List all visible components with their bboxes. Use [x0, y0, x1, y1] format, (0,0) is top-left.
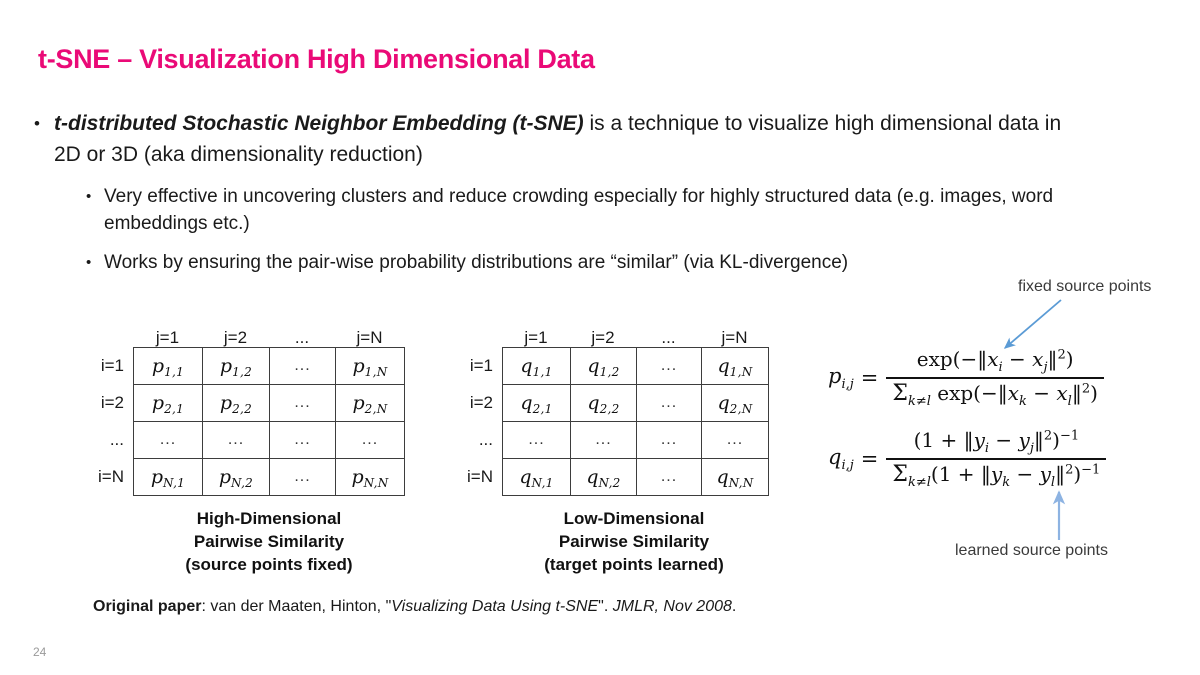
- matrix-p-col-header: j=1: [133, 328, 202, 347]
- matrix-p-row-label: i=1: [78, 347, 133, 384]
- matrix-cell: ...: [270, 385, 336, 422]
- bullet-level2-text: Very effective in uncovering clusters an…: [104, 183, 1066, 237]
- matrix-p-col-header: j=N: [335, 328, 404, 347]
- bullet-marker: •: [86, 183, 104, 210]
- matrix-p-col-header: ...: [269, 328, 335, 347]
- formula-p-denominator: Σk≠l exp(−‖xk − xl‖2): [886, 379, 1104, 409]
- matrix-cell: q1,1: [503, 348, 571, 385]
- formula-q-fraction: (1 + ‖yi − yj‖2)−1 Σk≠l(1 + ‖yk − yl‖2)−…: [886, 428, 1106, 490]
- citation-label: Original paper: [93, 598, 201, 615]
- matrix-cell: q2,N: [702, 385, 769, 422]
- matrix-cell: pN,2: [203, 459, 270, 496]
- matrix-cell: ...: [270, 422, 336, 459]
- matrix-cell: pN,N: [336, 459, 405, 496]
- citation-period: .: [732, 598, 736, 615]
- matrix-q-col-header: j=N: [701, 328, 768, 347]
- matrix-cell: ...: [203, 422, 270, 459]
- matrix-cell: ...: [702, 422, 769, 459]
- table-row: ... ... ... ...: [134, 422, 405, 459]
- page-title: t-SNE – Visualization High Dimensional D…: [38, 44, 595, 75]
- matrix-q-row-labels: i=1 i=2 ... i=N: [447, 347, 502, 496]
- bullet-level1: • t-distributed Stochastic Neighbor Embe…: [34, 108, 1064, 170]
- arrow-up-icon: [1051, 486, 1067, 544]
- matrix-cell: qN,2: [571, 459, 637, 496]
- slide-number: 24: [33, 645, 46, 659]
- formula-p-lhs: pi,j: [828, 364, 861, 392]
- table-row: q1,1 q1,2 ... q1,N: [503, 348, 769, 385]
- matrix-cell: qN,1: [503, 459, 571, 496]
- formula-q: qi,j = (1 + ‖yi − yj‖2)−1 Σk≠l(1 + ‖yk −…: [828, 428, 1106, 490]
- matrix-q-col-header: ...: [636, 328, 701, 347]
- table-row: ... ... ... ...: [503, 422, 769, 459]
- bullet-level1-text: t-distributed Stochastic Neighbor Embedd…: [54, 108, 1064, 170]
- table-row: p2,1 p2,2 ... p2,N: [134, 385, 405, 422]
- matrix-cell: qN,N: [702, 459, 769, 496]
- matrix-q-column-headers: j=1 j=2 ... j=N: [447, 318, 769, 347]
- bullet-level2-text: Works by ensuring the pair-wise probabil…: [104, 249, 1066, 276]
- matrix-cell: p1,1: [134, 348, 203, 385]
- matrix-q-caption: Low-Dimensional Pairwise Similarity (tar…: [500, 507, 768, 576]
- matrix-q-col-header: j=2: [570, 328, 636, 347]
- matrix-q-row-label: i=2: [447, 384, 502, 421]
- matrix-cell: q2,2: [571, 385, 637, 422]
- annotation-fixed-source-points: fixed source points: [1018, 278, 1151, 296]
- matrix-p-row-label: ...: [78, 421, 133, 458]
- matrix-p-caption: High-Dimensional Pairwise Similarity (so…: [133, 507, 405, 576]
- matrix-q-row-label: ...: [447, 421, 502, 458]
- formula-q-numerator: (1 + ‖yi − yj‖2)−1: [908, 428, 1086, 458]
- matrix-cell: ...: [637, 459, 702, 496]
- matrix-cell: ...: [270, 459, 336, 496]
- matrix-cell: p2,1: [134, 385, 203, 422]
- matrix-cell: p2,N: [336, 385, 405, 422]
- matrix-q-block: j=1 j=2 ... j=N i=1 i=2 ... i=N q1,1 q1,…: [447, 318, 769, 496]
- matrix-p-row-label: i=2: [78, 384, 133, 421]
- matrix-cell: ...: [571, 422, 637, 459]
- matrix-cell: p2,2: [203, 385, 270, 422]
- citation-paper-title: Visualizing Data Using t-SNE: [391, 598, 598, 615]
- matrix-p-column-headers: j=1 j=2 ... j=N: [78, 318, 405, 347]
- matrix-p-col-header: j=2: [202, 328, 269, 347]
- bullet-marker: •: [34, 108, 54, 139]
- matrix-cell: q2,1: [503, 385, 571, 422]
- matrix-cell: pN,1: [134, 459, 203, 496]
- table-row: q2,1 q2,2 ... q2,N: [503, 385, 769, 422]
- matrix-cell: q1,2: [571, 348, 637, 385]
- formula-q-lhs: qi,j: [828, 445, 861, 473]
- matrix-p-table: p1,1 p1,2 ... p1,N p2,1 p2,2 ... p2,N ..…: [133, 347, 405, 496]
- matrix-cell: ...: [637, 422, 702, 459]
- citation-venue: JMLR, Nov 2008: [613, 598, 732, 615]
- arrow-down-left-icon: [995, 296, 1067, 358]
- bullet-level2-effective: • Very effective in uncovering clusters …: [86, 183, 1066, 237]
- matrix-cell: q1,N: [702, 348, 769, 385]
- formula-q-denominator: Σk≠l(1 + ‖yk − yl‖2)−1: [886, 460, 1106, 490]
- citation-line: Original paper: van der Maaten, Hinton, …: [93, 598, 736, 616]
- table-row: qN,1 qN,2 ... qN,N: [503, 459, 769, 496]
- matrix-cell: p1,N: [336, 348, 405, 385]
- matrix-cell: ...: [637, 385, 702, 422]
- table-row: pN,1 pN,2 ... pN,N: [134, 459, 405, 496]
- matrix-p-row-labels: i=1 i=2 ... i=N: [78, 347, 133, 496]
- matrix-cell: p1,2: [203, 348, 270, 385]
- formula-p-equals: =: [861, 366, 887, 390]
- matrix-p-block: j=1 j=2 ... j=N i=1 i=2 ... i=N p1,1 p1,…: [78, 318, 405, 496]
- matrix-cell: ...: [336, 422, 405, 459]
- matrix-q-col-header: j=1: [502, 328, 570, 347]
- matrix-cell: ...: [134, 422, 203, 459]
- matrix-cell: ...: [503, 422, 571, 459]
- table-row: p1,1 p1,2 ... p1,N: [134, 348, 405, 385]
- matrix-cell: ...: [270, 348, 336, 385]
- citation-authors: van der Maaten, Hinton, ": [210, 598, 391, 615]
- bullet-level2-works: • Works by ensuring the pair-wise probab…: [86, 249, 1066, 276]
- matrix-p-row-label: i=N: [78, 458, 133, 495]
- matrix-cell: ...: [637, 348, 702, 385]
- matrix-q-table: q1,1 q1,2 ... q1,N q2,1 q2,2 ... q2,N ..…: [502, 347, 769, 496]
- bullet-marker: •: [86, 249, 104, 276]
- annotation-learned-source-points: learned source points: [955, 542, 1108, 560]
- matrix-q-row-label: i=1: [447, 347, 502, 384]
- formula-q-equals: =: [861, 447, 887, 471]
- bullet-lead-in: t-distributed Stochastic Neighbor Embedd…: [54, 112, 584, 135]
- citation-close-quote: ".: [598, 598, 613, 615]
- matrix-q-row-label: i=N: [447, 458, 502, 495]
- slide-canvas: t-SNE – Visualization High Dimensional D…: [0, 0, 1200, 675]
